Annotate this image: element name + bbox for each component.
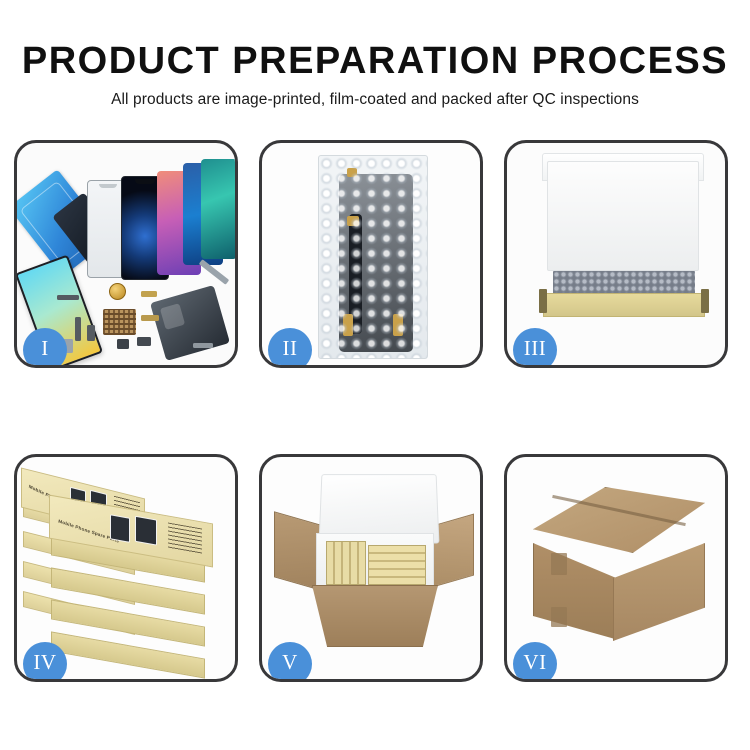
screwdriver-tool	[193, 343, 213, 348]
step-badge-3: III	[513, 328, 557, 368]
page-title: PRODUCT PREPARATION PROCESS	[0, 38, 750, 84]
step-badge-2: II	[268, 328, 312, 368]
phone-teal-gradient	[201, 159, 235, 259]
yellow-box-front-wall	[543, 293, 705, 317]
carton-tape-lower	[551, 607, 567, 627]
small-bracket-part	[87, 325, 95, 341]
carton-right-face	[613, 543, 705, 641]
carton-body	[312, 585, 438, 647]
product-preparation-infographic: PRODUCT PREPARATION PROCESS All products…	[0, 0, 750, 750]
copper-coil-part	[109, 283, 126, 300]
bubble-wrapped-contents	[553, 271, 695, 295]
inner-boxes-left-group	[326, 541, 366, 585]
process-step-panel-6[interactable]: VI	[504, 454, 728, 682]
box-tab-left	[539, 289, 547, 313]
process-step-panel-5[interactable]: V	[259, 454, 483, 682]
step-badge-4: IV	[23, 642, 67, 682]
stack-box-front-thumb-1	[110, 514, 130, 543]
header: PRODUCT PREPARATION PROCESS All products…	[0, 38, 750, 109]
page-subtitle: All products are image-printed, film-coa…	[0, 91, 750, 109]
flex-cable-part	[57, 295, 79, 300]
inner-boxes-right-group	[368, 545, 426, 585]
gold-flex-part	[141, 315, 159, 321]
process-step-panel-4[interactable]: Mobile Phone Spare Parts Mobile Phone Sp…	[14, 454, 238, 682]
stack-box-front-thumb-2	[135, 516, 157, 546]
white-foam-sheet	[547, 161, 699, 271]
speaker-part	[137, 337, 151, 346]
gold-contact-part	[141, 291, 157, 297]
carton-tape-upper	[551, 553, 567, 575]
process-step-panel-3[interactable]: III	[504, 140, 728, 368]
process-step-panel-2[interactable]: II	[259, 140, 483, 368]
ribbon-cable-part	[75, 317, 81, 341]
process-step-panel-1[interactable]: I	[14, 140, 238, 368]
box-tab-right	[701, 289, 709, 313]
bubble-wrap-bag	[318, 155, 428, 359]
connector-grid-part	[103, 309, 136, 335]
process-step-grid: I II	[14, 140, 736, 682]
stack-box-front-text-lines	[168, 523, 202, 555]
bubble-texture-overlay	[319, 156, 427, 358]
step-badge-1: I	[23, 328, 67, 368]
phone-back-housing	[150, 285, 230, 361]
carton-left-face	[533, 543, 615, 639]
step-badge-6: VI	[513, 642, 557, 682]
camera-module-part	[117, 339, 129, 349]
step-badge-5: V	[268, 642, 312, 682]
